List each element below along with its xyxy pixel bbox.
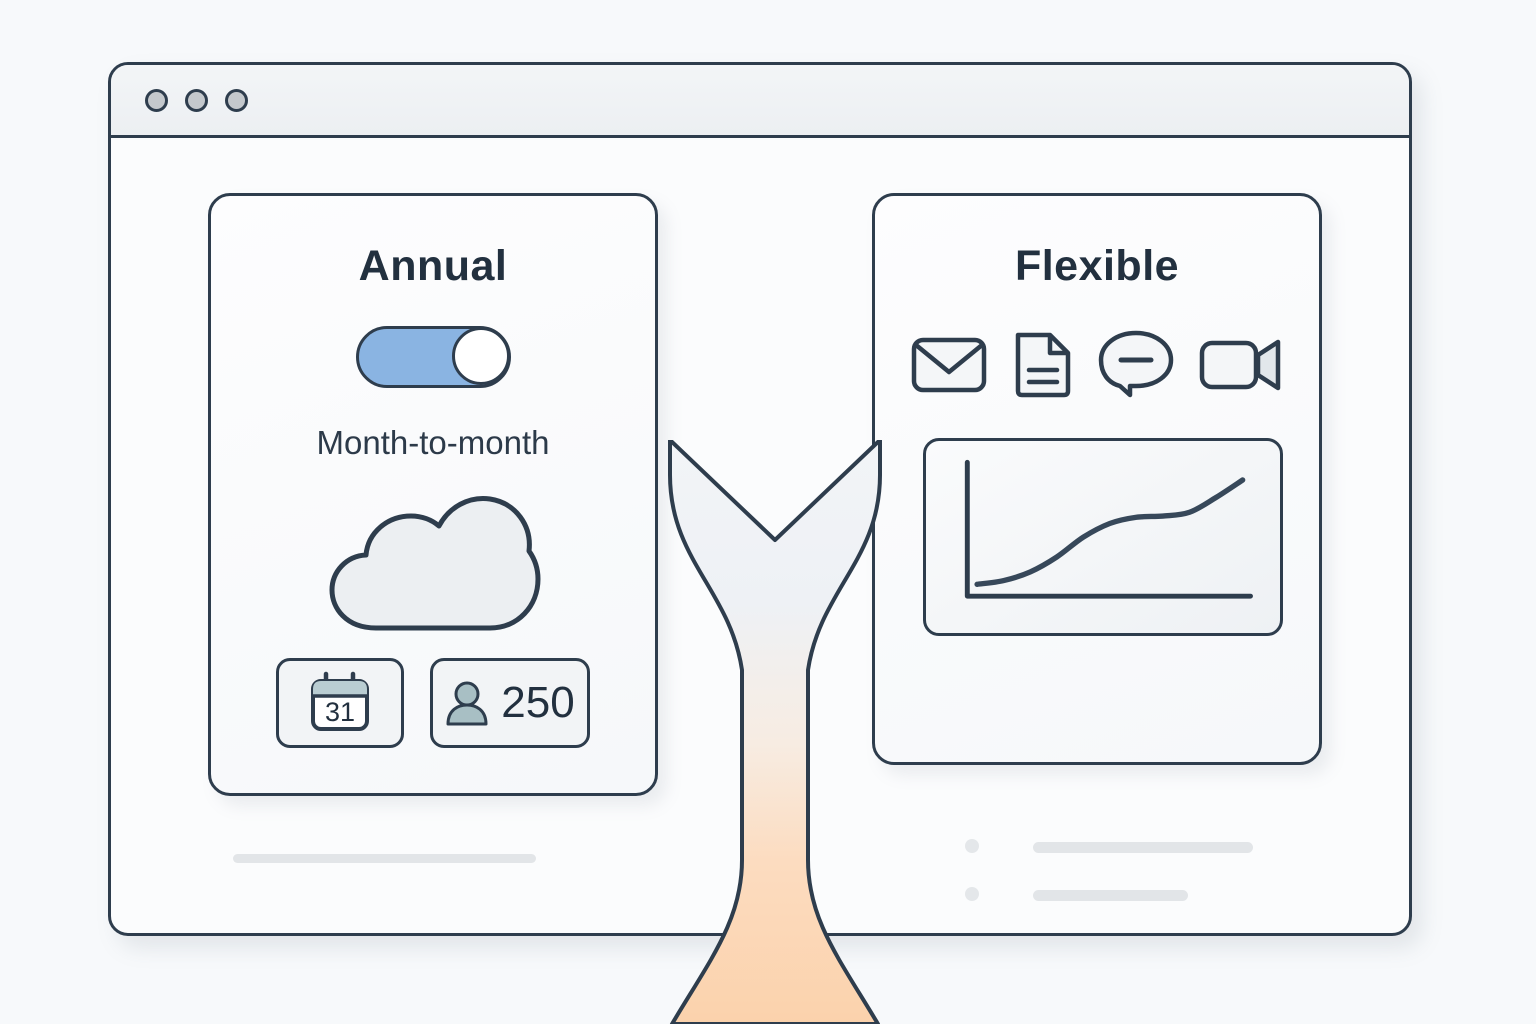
billing-toggle-caption: Month-to-month (211, 424, 655, 462)
annual-placeholder-bar (233, 854, 536, 863)
flexible-plan-card[interactable]: Flexible (872, 193, 1322, 765)
mail-icon[interactable] (910, 333, 988, 395)
chart-series-line (977, 480, 1242, 584)
close-button[interactable] (145, 89, 168, 112)
window-title-bar (111, 65, 1409, 138)
document-icon[interactable] (1010, 329, 1074, 399)
plan-detail-chips: 31 250 (211, 658, 655, 748)
chat-bubble-icon[interactable] (1096, 328, 1176, 400)
calendar-icon: 31 (306, 670, 374, 736)
growth-chart (926, 441, 1280, 633)
annual-plan-card[interactable]: Annual Month-to-month (208, 193, 658, 796)
channel-icon-row (875, 328, 1319, 400)
video-camera-icon[interactable] (1198, 333, 1284, 395)
list-item (1033, 890, 1188, 901)
bullet-dot (965, 839, 979, 853)
billing-cycle-chip[interactable]: 31 (276, 658, 404, 748)
list-item (1033, 842, 1253, 853)
bullet-dot (965, 887, 979, 901)
billing-toggle-row[interactable] (211, 326, 655, 388)
seats-chip[interactable]: 250 (430, 658, 590, 748)
maximize-button[interactable] (225, 89, 248, 112)
chart-axis (967, 462, 1250, 596)
calendar-day-value: 31 (325, 697, 355, 727)
window-controls[interactable] (145, 89, 248, 112)
browser-window: Annual Month-to-month (108, 62, 1412, 936)
cloud-illustration (211, 486, 655, 646)
flexible-card-title: Flexible (875, 242, 1319, 291)
growth-chart-panel (923, 438, 1283, 636)
person-icon (445, 678, 489, 728)
screenshot-canvas: Annual Month-to-month (0, 0, 1536, 1024)
minimize-button[interactable] (185, 89, 208, 112)
annual-card-title: Annual (211, 242, 655, 291)
cloud-icon (318, 486, 548, 646)
toggle-knob[interactable] (452, 327, 510, 385)
billing-toggle[interactable] (356, 326, 511, 388)
seats-value: 250 (501, 678, 574, 728)
